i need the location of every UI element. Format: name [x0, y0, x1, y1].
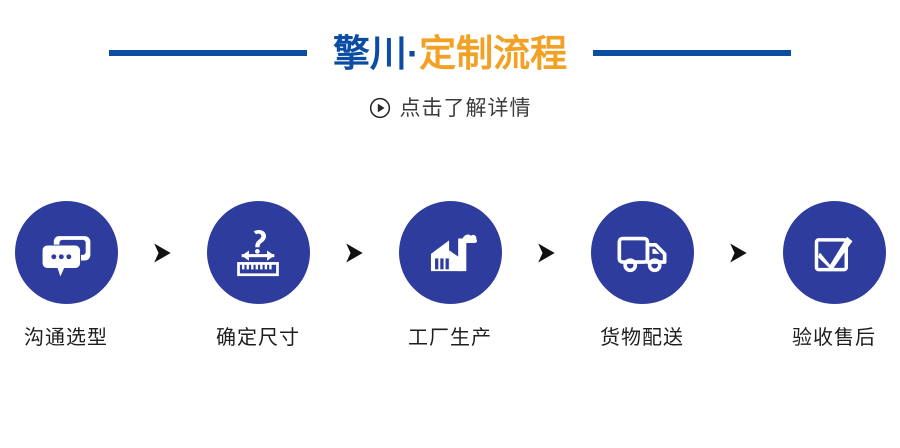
arrow-right-icon	[533, 240, 559, 266]
step-arrow-1	[148, 201, 176, 304]
details-cta-label: 点击了解详情	[400, 98, 532, 119]
title-rule-left	[109, 50, 307, 56]
step-icon-circle	[15, 201, 118, 304]
play-circle-icon[interactable]	[369, 97, 391, 119]
step-item-delivery[interactable]: 货物配送	[560, 201, 724, 348]
step-icon-circle	[399, 201, 502, 304]
step-label: 沟通选型	[24, 328, 108, 348]
checkbox-check-icon	[806, 225, 862, 281]
step-label: 确定尺寸	[216, 328, 300, 348]
chat-bubbles-icon	[36, 223, 96, 283]
arrow-right-icon	[341, 240, 367, 266]
page-title: 擎川·定制流程	[333, 35, 567, 72]
process-steps: 沟通选型	[0, 201, 900, 361]
arrow-right-icon	[149, 240, 175, 266]
ruler-measure-question-icon	[229, 224, 287, 282]
step-item-production[interactable]: 工厂生产	[368, 201, 532, 348]
page-title-subject: 定制流程	[419, 33, 567, 74]
page-title-brand: 擎川	[333, 33, 407, 74]
step-item-dimensions[interactable]: 确定尺寸	[176, 201, 340, 348]
arrow-right-icon	[725, 240, 751, 266]
page-title-separator-dot: ·	[407, 33, 419, 74]
step-arrow-4	[724, 201, 752, 304]
step-item-communication[interactable]: 沟通选型	[0, 201, 148, 348]
step-arrow-2	[340, 201, 368, 304]
step-icon-circle	[783, 201, 886, 304]
details-cta[interactable]: 点击了解详情	[0, 92, 900, 124]
step-label: 工厂生产	[408, 328, 492, 348]
header: 擎川·定制流程	[0, 22, 900, 84]
step-label: 验收售后	[792, 328, 876, 348]
step-item-acceptance[interactable]: 验收售后	[752, 201, 900, 348]
step-icon-circle	[207, 201, 310, 304]
step-arrow-3	[532, 201, 560, 304]
step-label: 货物配送	[600, 328, 684, 348]
delivery-truck-icon	[613, 224, 671, 282]
custom-process-banner: 擎川·定制流程 点击了解详情	[0, 0, 900, 448]
title-rule-right	[593, 50, 791, 56]
factory-icon	[421, 224, 479, 282]
step-icon-circle	[591, 201, 694, 304]
